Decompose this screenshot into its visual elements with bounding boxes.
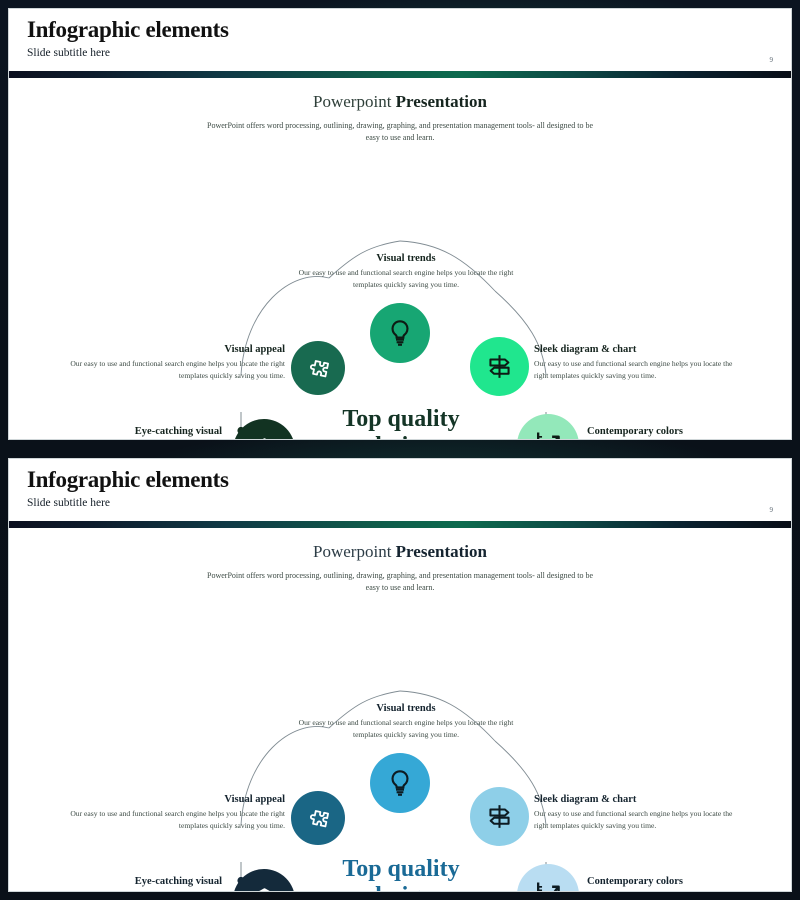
node-sleek-diagram-chart[interactable] [470, 787, 529, 846]
node-visual-appeal[interactable] [291, 791, 345, 845]
item-description: Our easy to use and functional search en… [19, 890, 222, 891]
layers-icon [249, 435, 280, 440]
page-number: 9 [770, 506, 774, 514]
item-description: Our easy to use and functional search en… [69, 808, 285, 832]
layers-icon [249, 885, 280, 892]
deck-description: PowerPoint offers word processing, outli… [200, 570, 600, 594]
item-title: Sleek diagram & chart [534, 344, 746, 355]
label-eye-catching-visual: Eye-catching visual Our easy to use and … [19, 426, 222, 439]
lightbulb-icon [385, 318, 415, 348]
deck-heading-block: Powerpoint Presentation PowerPoint offer… [9, 92, 791, 144]
node-eye-catching-visual[interactable] [233, 419, 295, 439]
label-visual-trends: Visual trends Our easy to use and functi… [295, 253, 517, 291]
label-contemporary-colors: Contemporary colors Our easy to use and … [587, 876, 787, 891]
center-title-line1: Top quality [291, 406, 511, 433]
label-visual-appeal: Visual appeal Our easy to use and functi… [69, 794, 285, 832]
node-sleek-diagram-chart[interactable] [470, 337, 529, 396]
signpost-icon [485, 802, 514, 831]
signpost-icon [485, 352, 514, 381]
node-eye-catching-visual[interactable] [233, 869, 295, 891]
item-title: Visual trends [295, 703, 517, 714]
label-visual-appeal: Visual appeal Our easy to use and functi… [69, 344, 285, 382]
item-title: Eye-catching visual [19, 876, 222, 887]
deck-heading-block: Powerpoint Presentation PowerPoint offer… [9, 542, 791, 594]
label-eye-catching-visual: Eye-catching visual Our easy to use and … [19, 876, 222, 891]
slide-header: Infographic elements Slide subtitle here… [9, 9, 791, 71]
item-description: Our easy to use and functional search en… [534, 358, 746, 382]
center-title-line2: design [291, 433, 511, 439]
item-description: Our easy to use and functional search en… [587, 890, 787, 891]
slide-blue[interactable]: Infographic elements Slide subtitle here… [8, 458, 792, 892]
screenshot-canvas: Infographic elements Slide subtitle here… [0, 0, 800, 900]
node-contemporary-colors[interactable] [517, 864, 579, 891]
center-title: Top quality design [291, 406, 511, 439]
label-visual-trends: Visual trends Our easy to use and functi… [295, 703, 517, 741]
deck-heading-bold: Presentation [396, 92, 487, 111]
page-title: Infographic elements [27, 18, 773, 43]
node-contemporary-colors[interactable] [517, 414, 579, 439]
lightbulb-icon [385, 768, 415, 798]
header-divider [9, 521, 791, 528]
item-title: Eye-catching visual [19, 426, 222, 437]
page-number: 9 [770, 56, 774, 64]
node-visual-appeal[interactable] [291, 341, 345, 395]
label-contemporary-colors: Contemporary colors Our easy to use and … [587, 426, 787, 439]
growth-chart-icon [533, 430, 564, 440]
deck-description: PowerPoint offers word processing, outli… [200, 120, 600, 144]
puzzle-piece-icon [305, 355, 332, 382]
puzzle-piece-icon [305, 805, 332, 832]
deck-heading-light: Powerpoint [313, 92, 396, 111]
page-title: Infographic elements [27, 468, 773, 493]
label-sleek-diagram-chart: Sleek diagram & chart Our easy to use an… [534, 344, 746, 382]
node-visual-trends[interactable] [370, 303, 430, 363]
item-title: Visual appeal [69, 344, 285, 355]
center-title: Top quality design [291, 856, 511, 891]
page-subtitle: Slide subtitle here [27, 47, 773, 59]
deck-heading-bold: Presentation [396, 542, 487, 561]
growth-chart-icon [533, 880, 564, 892]
deck-heading: Powerpoint Presentation [9, 542, 791, 562]
item-title: Visual appeal [69, 794, 285, 805]
label-sleek-diagram-chart: Sleek diagram & chart Our easy to use an… [534, 794, 746, 832]
page-subtitle: Slide subtitle here [27, 497, 773, 509]
center-title-line1: Top quality [291, 856, 511, 883]
item-title: Visual trends [295, 253, 517, 264]
deck-heading: Powerpoint Presentation [9, 92, 791, 112]
header-divider [9, 71, 791, 78]
item-description: Our easy to use and functional search en… [295, 717, 517, 741]
item-description: Our easy to use and functional search en… [295, 267, 517, 291]
item-description: Our easy to use and functional search en… [69, 358, 285, 382]
slide-body: Powerpoint Presentation PowerPoint offer… [9, 78, 791, 439]
slide-body: Powerpoint Presentation PowerPoint offer… [9, 528, 791, 891]
item-description: Our easy to use and functional search en… [534, 808, 746, 832]
slide-header: Infographic elements Slide subtitle here… [9, 459, 791, 521]
node-visual-trends[interactable] [370, 753, 430, 813]
deck-heading-light: Powerpoint [313, 542, 396, 561]
center-title-line2: design [291, 883, 511, 891]
slide-green[interactable]: Infographic elements Slide subtitle here… [8, 8, 792, 440]
item-title: Sleek diagram & chart [534, 794, 746, 805]
item-title: Contemporary colors [587, 876, 787, 887]
item-title: Contemporary colors [587, 426, 787, 437]
